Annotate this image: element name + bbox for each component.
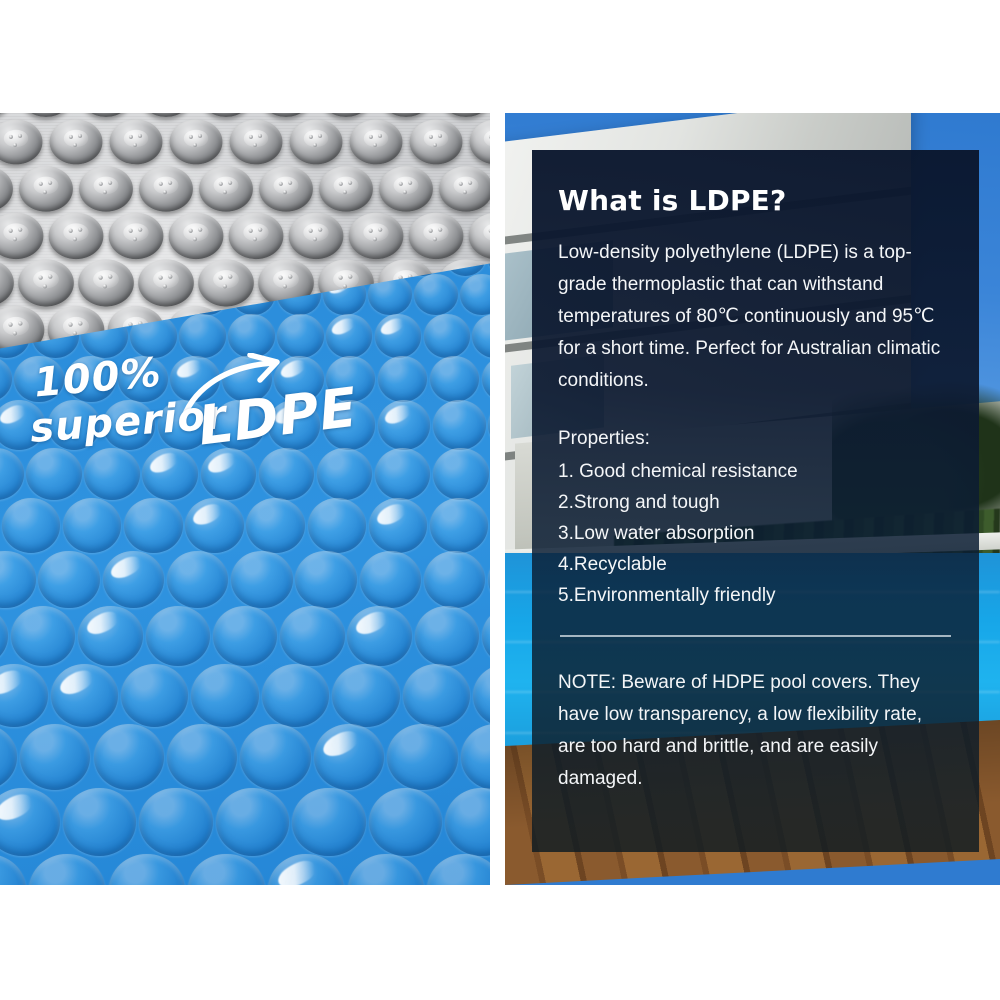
handwritten-annotation: 100% superior LDPE bbox=[30, 355, 330, 475]
blue-bubble bbox=[262, 664, 329, 727]
blue-bubble bbox=[109, 854, 185, 885]
grey-bubble bbox=[49, 213, 104, 259]
blue-bubble bbox=[103, 551, 164, 609]
property-item: 1. Good chemical resistance bbox=[558, 456, 953, 487]
infographic-canvas: 100% superior LDPE What is LDPE? bbox=[0, 0, 1000, 1000]
card-intro-paragraph: Low-density polyethylene (LDPE) is a top… bbox=[558, 237, 953, 397]
blue-bubble bbox=[139, 788, 212, 857]
blue-bubble bbox=[240, 724, 310, 790]
grey-bubble bbox=[229, 213, 284, 259]
properties-label: Properties: bbox=[558, 423, 953, 454]
blue-bubble bbox=[216, 788, 289, 857]
grey-bubble bbox=[440, 113, 490, 117]
grey-bubble bbox=[469, 213, 490, 259]
blue-bubble bbox=[314, 724, 384, 790]
grey-bubble bbox=[199, 166, 253, 212]
blue-bubble bbox=[482, 356, 490, 403]
grey-bubble bbox=[350, 120, 403, 165]
blue-bubble bbox=[0, 664, 48, 727]
properties-list: 1. Good chemical resistance2.Strong and … bbox=[558, 456, 953, 611]
blue-bubble bbox=[29, 854, 105, 885]
grey-bubble bbox=[140, 113, 192, 117]
blue-bubble bbox=[378, 356, 428, 403]
blue-bubble bbox=[488, 400, 490, 450]
blue-bubble bbox=[472, 314, 490, 358]
blue-bubble bbox=[268, 854, 344, 885]
blue-bubble bbox=[2, 498, 61, 553]
blue-bubble bbox=[295, 551, 356, 609]
blue-bubble bbox=[0, 788, 60, 857]
blue-bubble bbox=[460, 274, 490, 315]
grey-bubble bbox=[319, 166, 373, 212]
grey-bubble bbox=[169, 213, 224, 259]
grey-bubble bbox=[0, 113, 12, 117]
blue-bubble bbox=[445, 788, 490, 857]
blue-bubble bbox=[167, 551, 228, 609]
grey-bubble bbox=[18, 259, 74, 306]
info-card: What is LDPE? Low-density polyethylene (… bbox=[532, 150, 979, 852]
grey-bubble bbox=[0, 259, 14, 306]
blue-bubble bbox=[482, 606, 490, 667]
grey-bubble bbox=[198, 259, 254, 306]
blue-bubble bbox=[360, 551, 421, 609]
left-panel-product-photo: 100% superior LDPE bbox=[0, 113, 490, 885]
grey-bubble bbox=[80, 113, 132, 117]
blue-bubble bbox=[280, 606, 344, 667]
blue-bubble bbox=[63, 788, 136, 857]
grey-bubble bbox=[139, 166, 193, 212]
blue-bubble bbox=[433, 448, 489, 500]
grey-bubble bbox=[380, 113, 432, 117]
grey-bubble bbox=[0, 120, 42, 165]
blue-bubble bbox=[427, 854, 490, 885]
grey-bubble bbox=[0, 166, 13, 212]
blue-bubble bbox=[387, 724, 457, 790]
blue-bubble bbox=[188, 854, 264, 885]
blue-bubble bbox=[231, 551, 292, 609]
grey-bubble bbox=[78, 259, 134, 306]
blue-bubble bbox=[0, 356, 12, 403]
note-text: NOTE: Beware of HDPE pool covers. They h… bbox=[558, 667, 953, 795]
grey-bubble bbox=[290, 120, 343, 165]
grey-bubble bbox=[230, 120, 283, 165]
blue-bubble bbox=[473, 664, 490, 727]
property-item: 2.Strong and tough bbox=[558, 487, 953, 518]
card-title: What is LDPE? bbox=[558, 184, 953, 217]
blue-bubble bbox=[11, 606, 75, 667]
blue-bubble bbox=[292, 788, 365, 857]
blue-bubble bbox=[63, 498, 122, 553]
blue-bubble bbox=[38, 551, 99, 609]
grey-bubble bbox=[409, 213, 464, 259]
blue-bubble bbox=[414, 274, 458, 315]
grey-bubble bbox=[410, 120, 463, 165]
blue-bubble bbox=[332, 664, 399, 727]
blue-bubble bbox=[185, 498, 244, 553]
blue-bubble bbox=[430, 356, 480, 403]
blue-bubble bbox=[277, 314, 324, 358]
grey-bubble bbox=[379, 166, 433, 212]
blue-bubble bbox=[213, 606, 277, 667]
blue-bubble bbox=[167, 724, 237, 790]
grey-bubble bbox=[259, 166, 313, 212]
blue-bubble bbox=[433, 400, 486, 450]
grey-bubble bbox=[20, 113, 72, 117]
blue-bubble bbox=[375, 448, 431, 500]
blue-bubble bbox=[0, 606, 8, 667]
blue-bubble bbox=[94, 724, 164, 790]
blue-bubble bbox=[20, 724, 90, 790]
blue-bubble bbox=[424, 551, 485, 609]
blue-bubble bbox=[191, 664, 258, 727]
property-item: 5.Environmentally friendly bbox=[558, 580, 953, 611]
right-panel-pool-photo: What is LDPE? Low-density polyethylene (… bbox=[505, 113, 1000, 885]
blue-bubble bbox=[348, 854, 424, 885]
blue-bubble bbox=[0, 854, 26, 885]
grey-bubble bbox=[470, 120, 490, 165]
blue-bubble bbox=[430, 498, 489, 553]
blue-bubble bbox=[51, 664, 118, 727]
property-item: 3.Low water absorption bbox=[558, 518, 953, 549]
blue-bubble bbox=[461, 724, 490, 790]
property-item: 4.Recyclable bbox=[558, 549, 953, 580]
blue-bubble bbox=[121, 664, 188, 727]
blue-bubble bbox=[228, 314, 275, 358]
grey-bubble bbox=[289, 213, 344, 259]
blue-bubble bbox=[308, 498, 367, 553]
grey-bubble bbox=[19, 166, 73, 212]
blue-bubble bbox=[378, 400, 431, 450]
blue-bubble bbox=[0, 724, 17, 790]
blue-bubble bbox=[415, 606, 479, 667]
blue-bubble bbox=[424, 314, 471, 358]
blue-bubble bbox=[146, 606, 210, 667]
blue-bubble bbox=[375, 314, 422, 358]
grey-bubble bbox=[50, 120, 103, 165]
blue-bubble bbox=[246, 498, 305, 553]
grey-bubble bbox=[170, 120, 223, 165]
blue-bubble bbox=[0, 551, 36, 609]
grey-bubble bbox=[320, 113, 372, 117]
grey-bubble bbox=[0, 213, 43, 259]
blue-bubble bbox=[124, 498, 183, 553]
blue-bubble bbox=[78, 606, 142, 667]
blue-bubble bbox=[369, 498, 428, 553]
grey-bubble bbox=[349, 213, 404, 259]
grey-bubble bbox=[110, 120, 163, 165]
blue-bubble bbox=[179, 314, 226, 358]
grey-bubble bbox=[260, 113, 312, 117]
blue-bubble bbox=[403, 664, 470, 727]
blue-bubble bbox=[347, 606, 411, 667]
blue-bubble bbox=[326, 314, 373, 358]
blue-bubble bbox=[488, 551, 490, 609]
grey-bubble bbox=[109, 213, 164, 259]
card-divider bbox=[560, 635, 951, 637]
blue-bubble bbox=[0, 448, 24, 500]
grey-bubble bbox=[200, 113, 252, 117]
blue-bubble bbox=[369, 788, 442, 857]
grey-bubble bbox=[439, 166, 490, 212]
grey-bubble bbox=[138, 259, 194, 306]
grey-bubble bbox=[79, 166, 133, 212]
